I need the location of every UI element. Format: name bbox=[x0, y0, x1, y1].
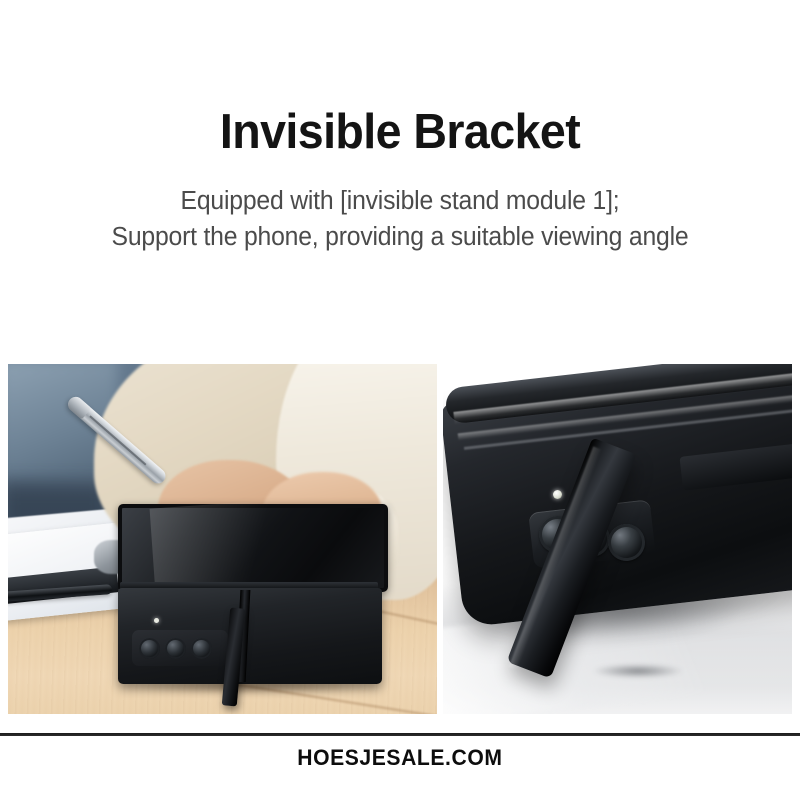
camera-lens bbox=[139, 638, 160, 659]
header: Invisible Bracket Equipped with [invisib… bbox=[0, 0, 800, 255]
product-closeup-photo[interactable] bbox=[443, 364, 792, 714]
phone-screen bbox=[118, 504, 388, 592]
page-subtitle: Equipped with [invisible stand module 1]… bbox=[12, 157, 788, 255]
footer-divider bbox=[0, 733, 800, 736]
subtitle-line-1: Equipped with [invisible stand module 1]… bbox=[12, 183, 788, 219]
kickstand-contact-shadow bbox=[593, 664, 683, 678]
page-title: Invisible Bracket bbox=[20, 108, 780, 157]
subtitle-line-2: Support the phone, providing a suitable … bbox=[12, 219, 788, 255]
brand-watermark: HOESJESALE.COM bbox=[297, 745, 502, 771]
camera-flash bbox=[553, 490, 562, 499]
camera-lens bbox=[191, 638, 212, 659]
camera-flash bbox=[154, 618, 159, 623]
lifestyle-photo[interactable] bbox=[8, 364, 437, 714]
footer: HOESJESALE.COM bbox=[0, 745, 800, 771]
image-gallery bbox=[0, 364, 800, 714]
camera-lens bbox=[165, 638, 186, 659]
